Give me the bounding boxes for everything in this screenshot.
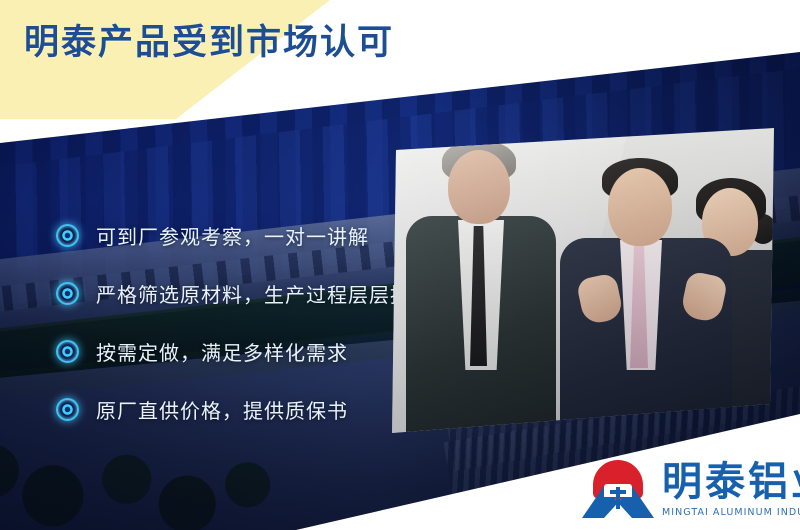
photo-shading-overlay xyxy=(392,128,774,433)
target-ring-icon xyxy=(56,340,79,363)
list-item-label: 可到厂参观考察，一对一讲解 xyxy=(96,221,369,250)
list-item: 可到厂参观考察，一对一讲解 xyxy=(56,206,416,264)
company-name-cn: 明泰铝业 xyxy=(662,462,800,502)
cross-horizontal-shape xyxy=(610,490,626,494)
list-item: 严格筛选原材料，生产过程层层控制 xyxy=(56,264,416,322)
target-ring-icon xyxy=(56,224,79,247)
list-item: 原厂直供价格，提供质保书 xyxy=(56,380,416,438)
list-item-label: 原厂直供价格，提供质保书 xyxy=(96,395,348,424)
list-item: 按需定做，满足多样化需求 xyxy=(56,322,416,380)
promo-banner: 明泰产品受到市场认可 可到厂参观考察，一对一讲解 严格筛选原材料，生产过程层层控… xyxy=(0,0,800,530)
business-people-photo xyxy=(392,128,774,433)
mingtai-sun-mountain-icon xyxy=(582,460,654,518)
company-name-en: MINGTAI ALUMINUM INDUSTRY CO., LTD xyxy=(662,507,800,518)
sun-shape xyxy=(593,460,643,485)
logo-wordmark: 明泰铝业 MINGTAI ALUMINUM INDUSTRY CO., LTD xyxy=(662,462,800,518)
feature-list: 可到厂参观考察，一对一讲解 严格筛选原材料，生产过程层层控制 按需定做，满足多样… xyxy=(56,206,416,438)
list-item-label: 按需定做，满足多样化需求 xyxy=(96,337,348,366)
target-ring-icon xyxy=(56,282,79,305)
target-ring-icon xyxy=(56,398,79,421)
company-logo: 明泰铝业 MINGTAI ALUMINUM INDUSTRY CO., LTD xyxy=(582,460,800,518)
list-item-label: 严格筛选原材料，生产过程层层控制 xyxy=(96,279,432,308)
page-title: 明泰产品受到市场认可 xyxy=(24,24,394,63)
